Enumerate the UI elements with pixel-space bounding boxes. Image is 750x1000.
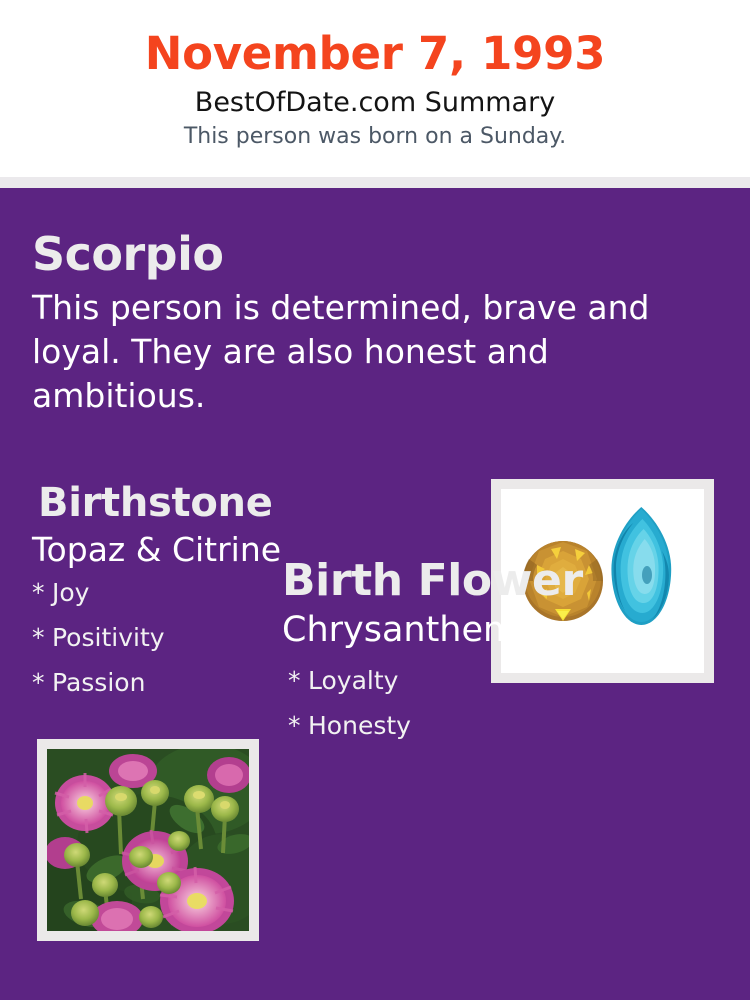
- birthstone-heading: Birthstone: [38, 478, 472, 528]
- header-divider: [0, 177, 750, 188]
- card-header: November 7, 1993 BestOfDate.com Summary …: [0, 0, 750, 177]
- asterisk-icon: *: [32, 570, 52, 615]
- birth-flower-section: Birth Flower Chrysanthemum *Loyalty *Hon…: [282, 553, 732, 748]
- birthstone-trait-label: Joy: [52, 578, 89, 607]
- asterisk-icon: *: [32, 615, 52, 660]
- birthstone-trait-label: Passion: [52, 668, 145, 697]
- site-summary-label: BestOfDate.com Summary: [0, 82, 750, 120]
- asterisk-icon: *: [32, 660, 52, 705]
- birth-flower-image: [47, 749, 249, 931]
- birth-flower-heading: Birth Flower: [282, 553, 732, 608]
- list-item: *Loyalty: [282, 658, 732, 703]
- birth-flower-image-frame: [37, 739, 259, 941]
- list-item: *Honesty: [282, 703, 732, 748]
- chrysanthemum-illustration: [47, 749, 249, 931]
- birth-flower-trait-label: Honesty: [308, 711, 411, 740]
- summary-card: November 7, 1993 BestOfDate.com Summary …: [0, 0, 750, 1000]
- birth-flower-name: Chrysanthemum: [282, 608, 732, 652]
- birthstone-trait-label: Positivity: [52, 623, 165, 652]
- asterisk-icon: *: [288, 703, 308, 748]
- birth-flower-trait-list: *Loyalty *Honesty: [282, 652, 732, 748]
- zodiac-sign-name: Scorpio: [32, 226, 702, 282]
- page-title: November 7, 1993: [0, 0, 750, 82]
- zodiac-section: Scorpio This person is determined, brave…: [32, 226, 702, 418]
- birth-day-note: This person was born on a Sunday.: [0, 120, 750, 151]
- birth-flower-trait-label: Loyalty: [308, 666, 398, 695]
- zodiac-description: This person is determined, brave and loy…: [32, 282, 692, 418]
- asterisk-icon: *: [288, 658, 308, 703]
